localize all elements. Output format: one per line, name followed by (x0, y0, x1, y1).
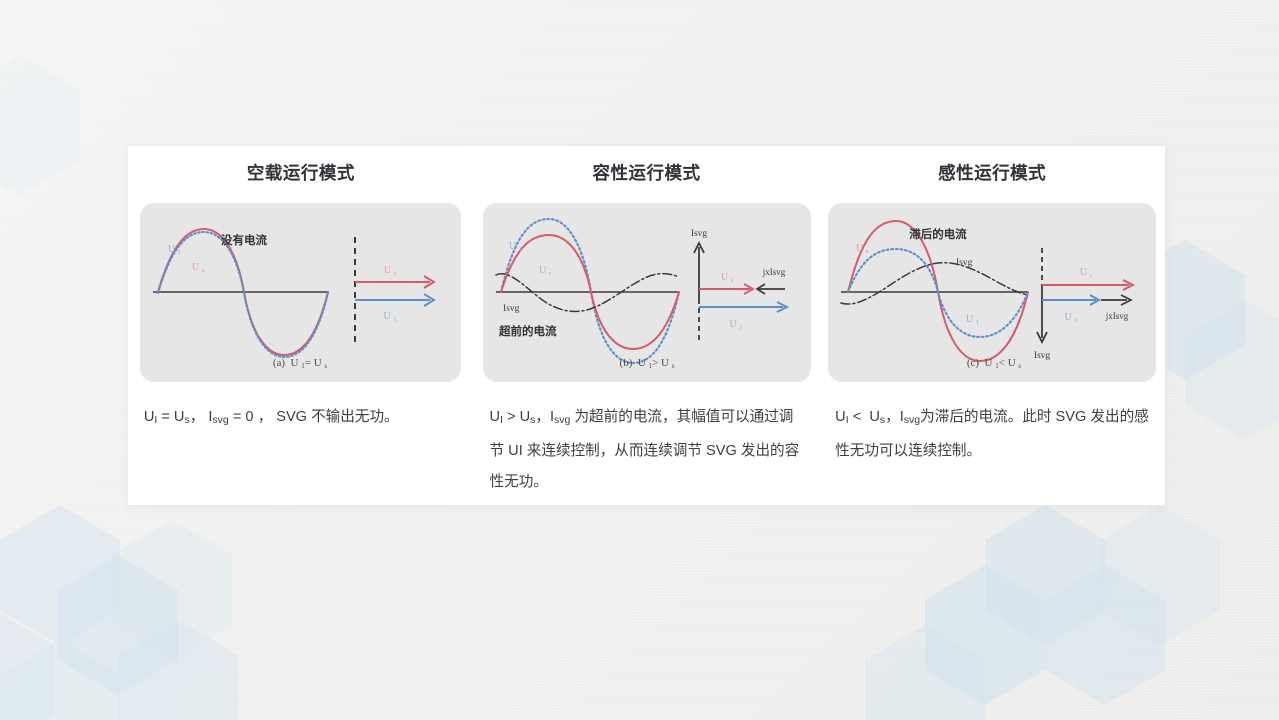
waveform-u1-blue (848, 249, 1028, 337)
paragraph-inductive: UI < Us，Isvg为滞后的电流。此时 SVG 发出的感性无功可以连续控制。 (835, 402, 1149, 467)
column-title-capacitive: 容性运行模式 (593, 160, 701, 185)
wave-label-us: U s (539, 265, 552, 277)
wave-note-lagging-current: 滞后的电流 (909, 227, 967, 241)
phasor-label-u1: U 1 (384, 311, 397, 323)
wave-label-us: U s (192, 262, 205, 274)
phasor-axis-label-isvg: Isvg (1034, 351, 1051, 361)
phasor-label-u1: U 1 (1065, 312, 1078, 324)
figure-caption-b: (b) U 1> U s (619, 357, 674, 370)
wave-note-no-current: 没有电流 (221, 233, 267, 247)
column-capacitive-mode: 容性运行模式 U 1 U s Isvg 超前的电流 (474, 146, 820, 505)
wave-label-isvg: Isvg (503, 304, 520, 314)
figure-panel-no-load: U 1 U s 没有电流 U s U 1 (140, 203, 461, 382)
phasor-label-jxisvg: jxIsvg (1105, 311, 1129, 321)
column-no-load-mode: 空载运行模式 U 1 U s 没有电流 (128, 146, 474, 505)
wave-label-us: U s (856, 243, 869, 255)
figure-caption-a: (a) U 1= U s (273, 357, 328, 370)
mode-columns: 空载运行模式 U 1 U s 没有电流 (128, 146, 1165, 505)
para-text-1: UI = Us， Isvg = 0 ， SVG 不输出无功。 (144, 409, 399, 425)
phasor-label-u1: U 1 (729, 319, 742, 331)
phasor-label-us: U s (384, 265, 397, 277)
content-card: 空载运行模式 U 1 U s 没有电流 (128, 146, 1165, 505)
figure-panel-capacitive: U 1 U s Isvg 超前的电流 Isvg U s (483, 203, 811, 382)
waveform-u1-blue (158, 232, 328, 357)
phasor-axis-label-isvg: Isvg (690, 229, 707, 239)
figure-capacitive: U 1 U s Isvg 超前的电流 Isvg U s (483, 203, 811, 382)
figure-no-load: U 1 U s 没有电流 U s U 1 (140, 203, 461, 382)
column-title-no-load: 空载运行模式 (247, 160, 355, 185)
phasor-label-jxisvg: jxIsvg (761, 267, 785, 277)
figure-caption-c: (c) U 1< U s (967, 357, 1022, 370)
para-text-2: UI > Us，Isvg 为超前的电流，其幅值可以通过调节 UI 来连续控制，从… (490, 409, 800, 490)
figure-panel-inductive: U s Isvg U 1 滞后的电流 Isvg U s (828, 203, 1156, 382)
wave-label-u1: U 1 (966, 314, 979, 326)
para-text-3: UI < Us，Isvg为滞后的电流。此时 SVG 发出的感性无功可以连续控制。 (835, 409, 1149, 459)
wave-label-isvg: Isvg (956, 258, 973, 268)
paragraph-capacitive: UI > Us，Isvg 为超前的电流，其幅值可以通过调节 UI 来连续控制，从… (490, 402, 804, 498)
wave-note-leading-current: 超前的电流 (498, 324, 557, 338)
figure-inductive: U s Isvg U 1 滞后的电流 Isvg U s (828, 203, 1156, 382)
paragraph-no-load: UI = Us， Isvg = 0 ， SVG 不输出无功。 (144, 402, 458, 436)
phasor-label-us: U s (720, 272, 733, 284)
wave-label-u1: U 1 (509, 241, 522, 253)
column-inductive-mode: 感性运行模式 U s Isvg U 1 滞后的电流 (819, 146, 1165, 505)
column-title-inductive: 感性运行模式 (938, 160, 1046, 185)
phasor-label-us: U s (1080, 267, 1093, 279)
